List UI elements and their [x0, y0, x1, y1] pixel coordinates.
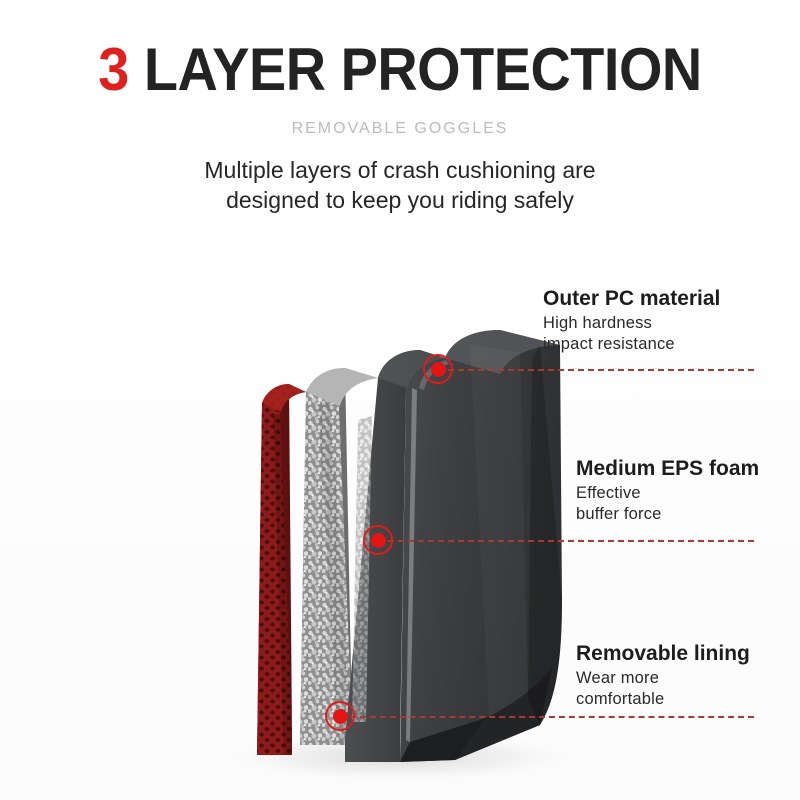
callout-medium-eps-foam: Medium EPS foam Effective buffer force [576, 456, 800, 525]
callout-subtext-line-1: Wear more [576, 668, 800, 689]
marker-dot-medium-eps-foam[interactable] [363, 525, 393, 555]
leader-line-medium-eps-foam [378, 540, 754, 542]
callout-subtext-line-2: buffer force [576, 504, 800, 525]
callout-title: Removable lining [576, 641, 800, 666]
callout-subtext-line-2: comfortable [576, 689, 800, 710]
layer-mesh-lining [257, 384, 306, 755]
callout-title: Outer PC material [543, 286, 800, 311]
callout-outer-pc-material: Outer PC material High hardness impact r… [543, 286, 800, 355]
callout-subtext-line-1: Effective [576, 483, 800, 504]
callout-removable-lining: Removable lining Wear more comfortable [576, 641, 800, 710]
infographic-page: 3 LAYER PROTECTION REMOVABLE GOGGLES Mul… [0, 0, 800, 800]
callout-subtext: High hardness impact resistance [543, 313, 800, 355]
leader-line-outer-pc-material [438, 369, 754, 371]
marker-dot-outer-pc-material[interactable] [423, 354, 453, 384]
marker-dot-removable-lining[interactable] [325, 701, 355, 731]
callout-subtext: Wear more comfortable [576, 668, 800, 710]
callout-title: Medium EPS foam [576, 456, 800, 481]
leader-line-removable-lining [340, 716, 754, 718]
callout-subtext: Effective buffer force [576, 483, 800, 525]
callout-subtext-line-1: High hardness [543, 313, 800, 334]
callout-subtext-line-2: impact resistance [543, 334, 800, 355]
